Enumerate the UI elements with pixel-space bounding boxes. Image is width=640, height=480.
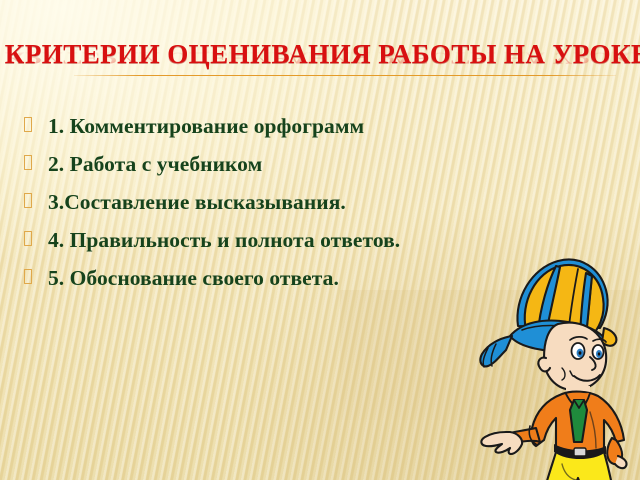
hand-pointing: [481, 432, 522, 454]
list-item-label: 5. Обоснование своего ответа.: [48, 266, 339, 291]
hat-tassel: [480, 336, 512, 366]
list-item: 3.Составление высказывания.: [24, 190, 544, 228]
list-item-label: 4. Правильность и полнота ответов.: [48, 228, 400, 253]
cartoon-character-image: [470, 252, 640, 480]
bullet-box-icon: [24, 117, 48, 132]
list-item: 2. Работа с учебником: [24, 152, 544, 190]
page-title: КРИТЕРИИ ОЦЕНИВАНИЯ РАБОТЫ НА УРОКЕ: [5, 38, 635, 70]
title-block: КРИТЕРИИ ОЦЕНИВАНИЯ РАБОТЫ НА УРОКЕ КРИТ…: [0, 38, 640, 98]
title-divider-rule: [74, 75, 616, 76]
bullet-box-icon: [24, 269, 48, 284]
bullet-list: 1. Комментирование орфограмм 2. Работа с…: [24, 114, 544, 304]
bullet-box-icon: [24, 155, 48, 170]
list-item: 5. Обоснование своего ответа.: [24, 266, 544, 304]
list-item: 4. Правильность и полнота ответов.: [24, 228, 544, 266]
bullet-box-icon: [24, 231, 48, 246]
bullet-box-icon: [24, 193, 48, 208]
list-item-label: 1. Комментирование орфограмм: [48, 114, 364, 139]
list-item: 1. Комментирование орфограмм: [24, 114, 544, 152]
list-item-label: 3.Составление высказывания.: [48, 190, 346, 215]
slide-canvas: КРИТЕРИИ ОЦЕНИВАНИЯ РАБОТЫ НА УРОКЕ КРИТ…: [0, 0, 640, 480]
list-item-label: 2. Работа с учебником: [48, 152, 262, 177]
